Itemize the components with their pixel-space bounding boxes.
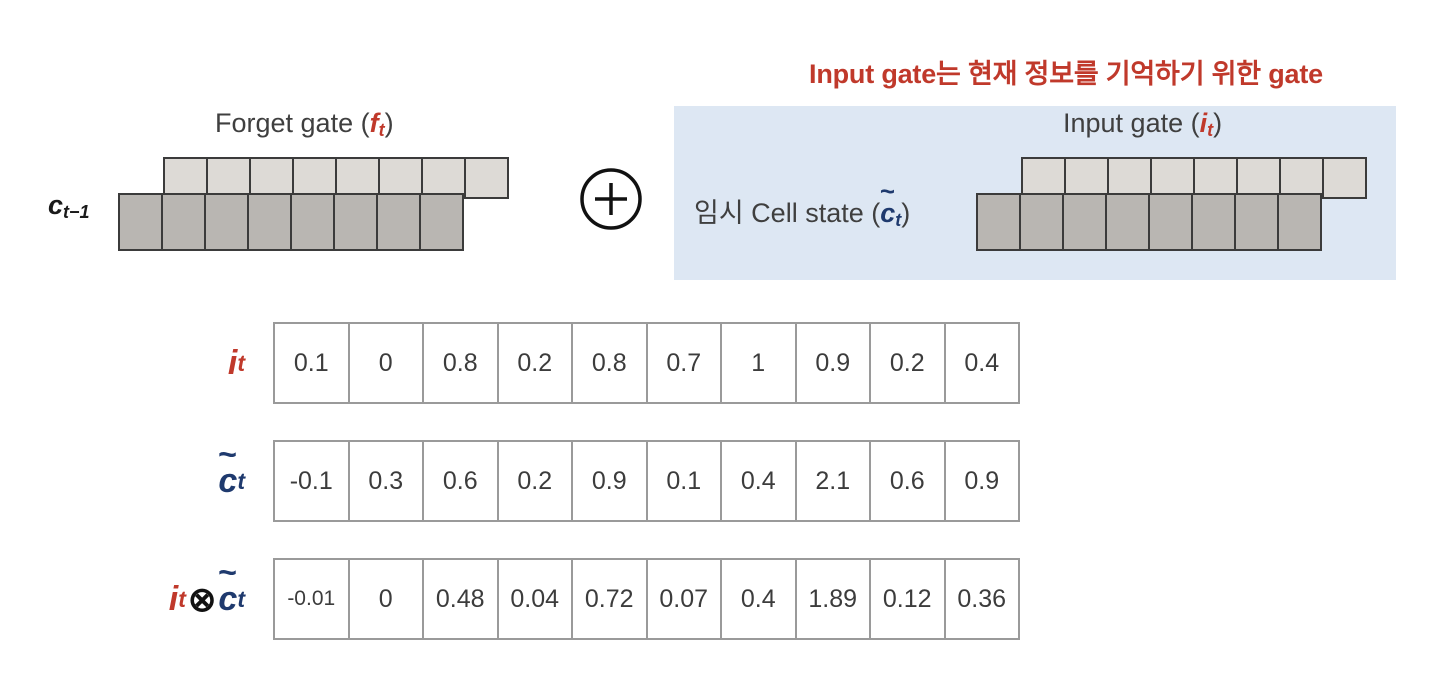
table-cell: 0.3 [348, 440, 425, 522]
row-label-i-symbol: i [169, 580, 178, 619]
table-cell: -0.01 [273, 558, 350, 640]
temp-cell-state-text: 임시 Cell state ( [694, 198, 880, 228]
row-label-c-symbol: ~c [218, 462, 237, 501]
input-gate-cell [1322, 157, 1367, 199]
row-label-tilde: ~ [217, 556, 236, 588]
row-label-c-symbol: ~c [218, 580, 237, 619]
table-cell: 0.4 [944, 322, 1021, 404]
table-cell: 0.2 [497, 322, 574, 404]
row-label-i-subscript: t [178, 586, 186, 613]
temp-cell-state-cell [1062, 193, 1107, 251]
row-label-i-subscript: t [237, 350, 245, 377]
temp-cell-state-cell [976, 193, 1021, 251]
table-cell: 0 [348, 558, 425, 640]
table-cell: 1 [720, 322, 797, 404]
table-cell: 0.6 [422, 440, 499, 522]
forget-gate-title: Forget gate (ft) [215, 108, 394, 141]
temp-cell-state-cell [1148, 193, 1193, 251]
table-row: ~ct-0.10.30.60.20.90.10.42.10.60.9 [275, 440, 1020, 522]
row-label-c-subscript: t [237, 586, 245, 613]
input-gate-symbol: i [1200, 108, 1208, 138]
circled-plus-icon [578, 166, 644, 232]
forget-gate-title-text: Forget gate ( [215, 108, 370, 138]
table-cell: 0.48 [422, 558, 499, 640]
input-gate-title-text: Input gate ( [1063, 108, 1200, 138]
table-cell: 0.2 [869, 322, 946, 404]
temp-cell-state-close: ) [901, 198, 910, 228]
table-row-label-c_tilde_t: ~ct [218, 440, 275, 522]
row-label-tilde: ~ [217, 438, 236, 470]
input-gate-title: Input gate (it) [1063, 108, 1222, 141]
table-cell: 0.12 [869, 558, 946, 640]
row-label-c-subscript: t [237, 468, 245, 495]
table-row: it0.100.80.20.80.710.90.20.4 [275, 322, 1020, 404]
table-cell: 0.9 [795, 322, 872, 404]
cell-state-prev-cell [161, 193, 206, 251]
table-cell: 0.9 [571, 440, 648, 522]
table-cell: 0.4 [720, 440, 797, 522]
cell-state-prev-cell [204, 193, 249, 251]
table-cell: 0.8 [571, 322, 648, 404]
table-cell: 0.72 [571, 558, 648, 640]
table-cell: 0 [348, 322, 425, 404]
table-cell: 0.6 [869, 440, 946, 522]
table-cell: 0.1 [646, 440, 723, 522]
temp-cell-state-label: 임시 Cell state (~ct) [694, 191, 910, 231]
forget-gate-symbol: f [370, 108, 379, 138]
cell-state-prev-cell [419, 193, 464, 251]
cell-state-prev-cell [118, 193, 163, 251]
input-gate-blocks [976, 157, 1396, 257]
row-label-i-symbol: i [228, 344, 237, 383]
table-cell: 1.89 [795, 558, 872, 640]
cell-state-prev-cell [290, 193, 335, 251]
cell-state-prev-symbol: c [48, 190, 63, 220]
forget-gate-blocks [118, 157, 538, 257]
table-cell: -0.1 [273, 440, 350, 522]
table-cell: 2.1 [795, 440, 872, 522]
table-cell: 0.1 [273, 322, 350, 404]
table-cell: 0.8 [422, 322, 499, 404]
headline-text: Input gate는 현재 정보를 기억하기 위한 gate [686, 52, 1446, 91]
table-cell: 0.36 [944, 558, 1021, 640]
cell-state-prev-cell [333, 193, 378, 251]
temp-cell-state-tilde: ~ [880, 180, 895, 206]
value-table: it0.100.80.20.80.710.90.20.4~ct-0.10.30.… [275, 322, 1020, 676]
table-cell: 0.04 [497, 558, 574, 640]
cell-state-prev-label: ct−1 [48, 190, 90, 223]
table-row: it⊗~ct-0.0100.480.040.720.070.41.890.120… [275, 558, 1020, 640]
temp-cell-state-cell [1105, 193, 1150, 251]
forget-gate-title-close: ) [385, 108, 394, 138]
table-row-label-i_t: it [228, 322, 275, 404]
input-gate-bottom-row [976, 193, 1322, 251]
temp-cell-state-cell [1019, 193, 1064, 251]
cell-state-prev-cell [247, 193, 292, 251]
input-gate-title-close: ) [1213, 108, 1222, 138]
cell-state-prev-subscript: t−1 [63, 202, 90, 222]
forget-gate-cell [464, 157, 509, 199]
otimes-icon: ⊗ [188, 580, 217, 620]
table-row-label-i_t_otimes_c_tilde_t: it⊗~ct [169, 558, 275, 640]
temp-cell-state-cell [1277, 193, 1322, 251]
table-cell: 0.2 [497, 440, 574, 522]
table-cell: 0.4 [720, 558, 797, 640]
table-cell: 0.9 [944, 440, 1021, 522]
cell-state-prev-cell [376, 193, 421, 251]
table-cell: 0.7 [646, 322, 723, 404]
temp-cell-state-cell [1234, 193, 1279, 251]
temp-cell-state-cell [1191, 193, 1236, 251]
forget-gate-bottom-row [118, 193, 464, 251]
table-cell: 0.07 [646, 558, 723, 640]
